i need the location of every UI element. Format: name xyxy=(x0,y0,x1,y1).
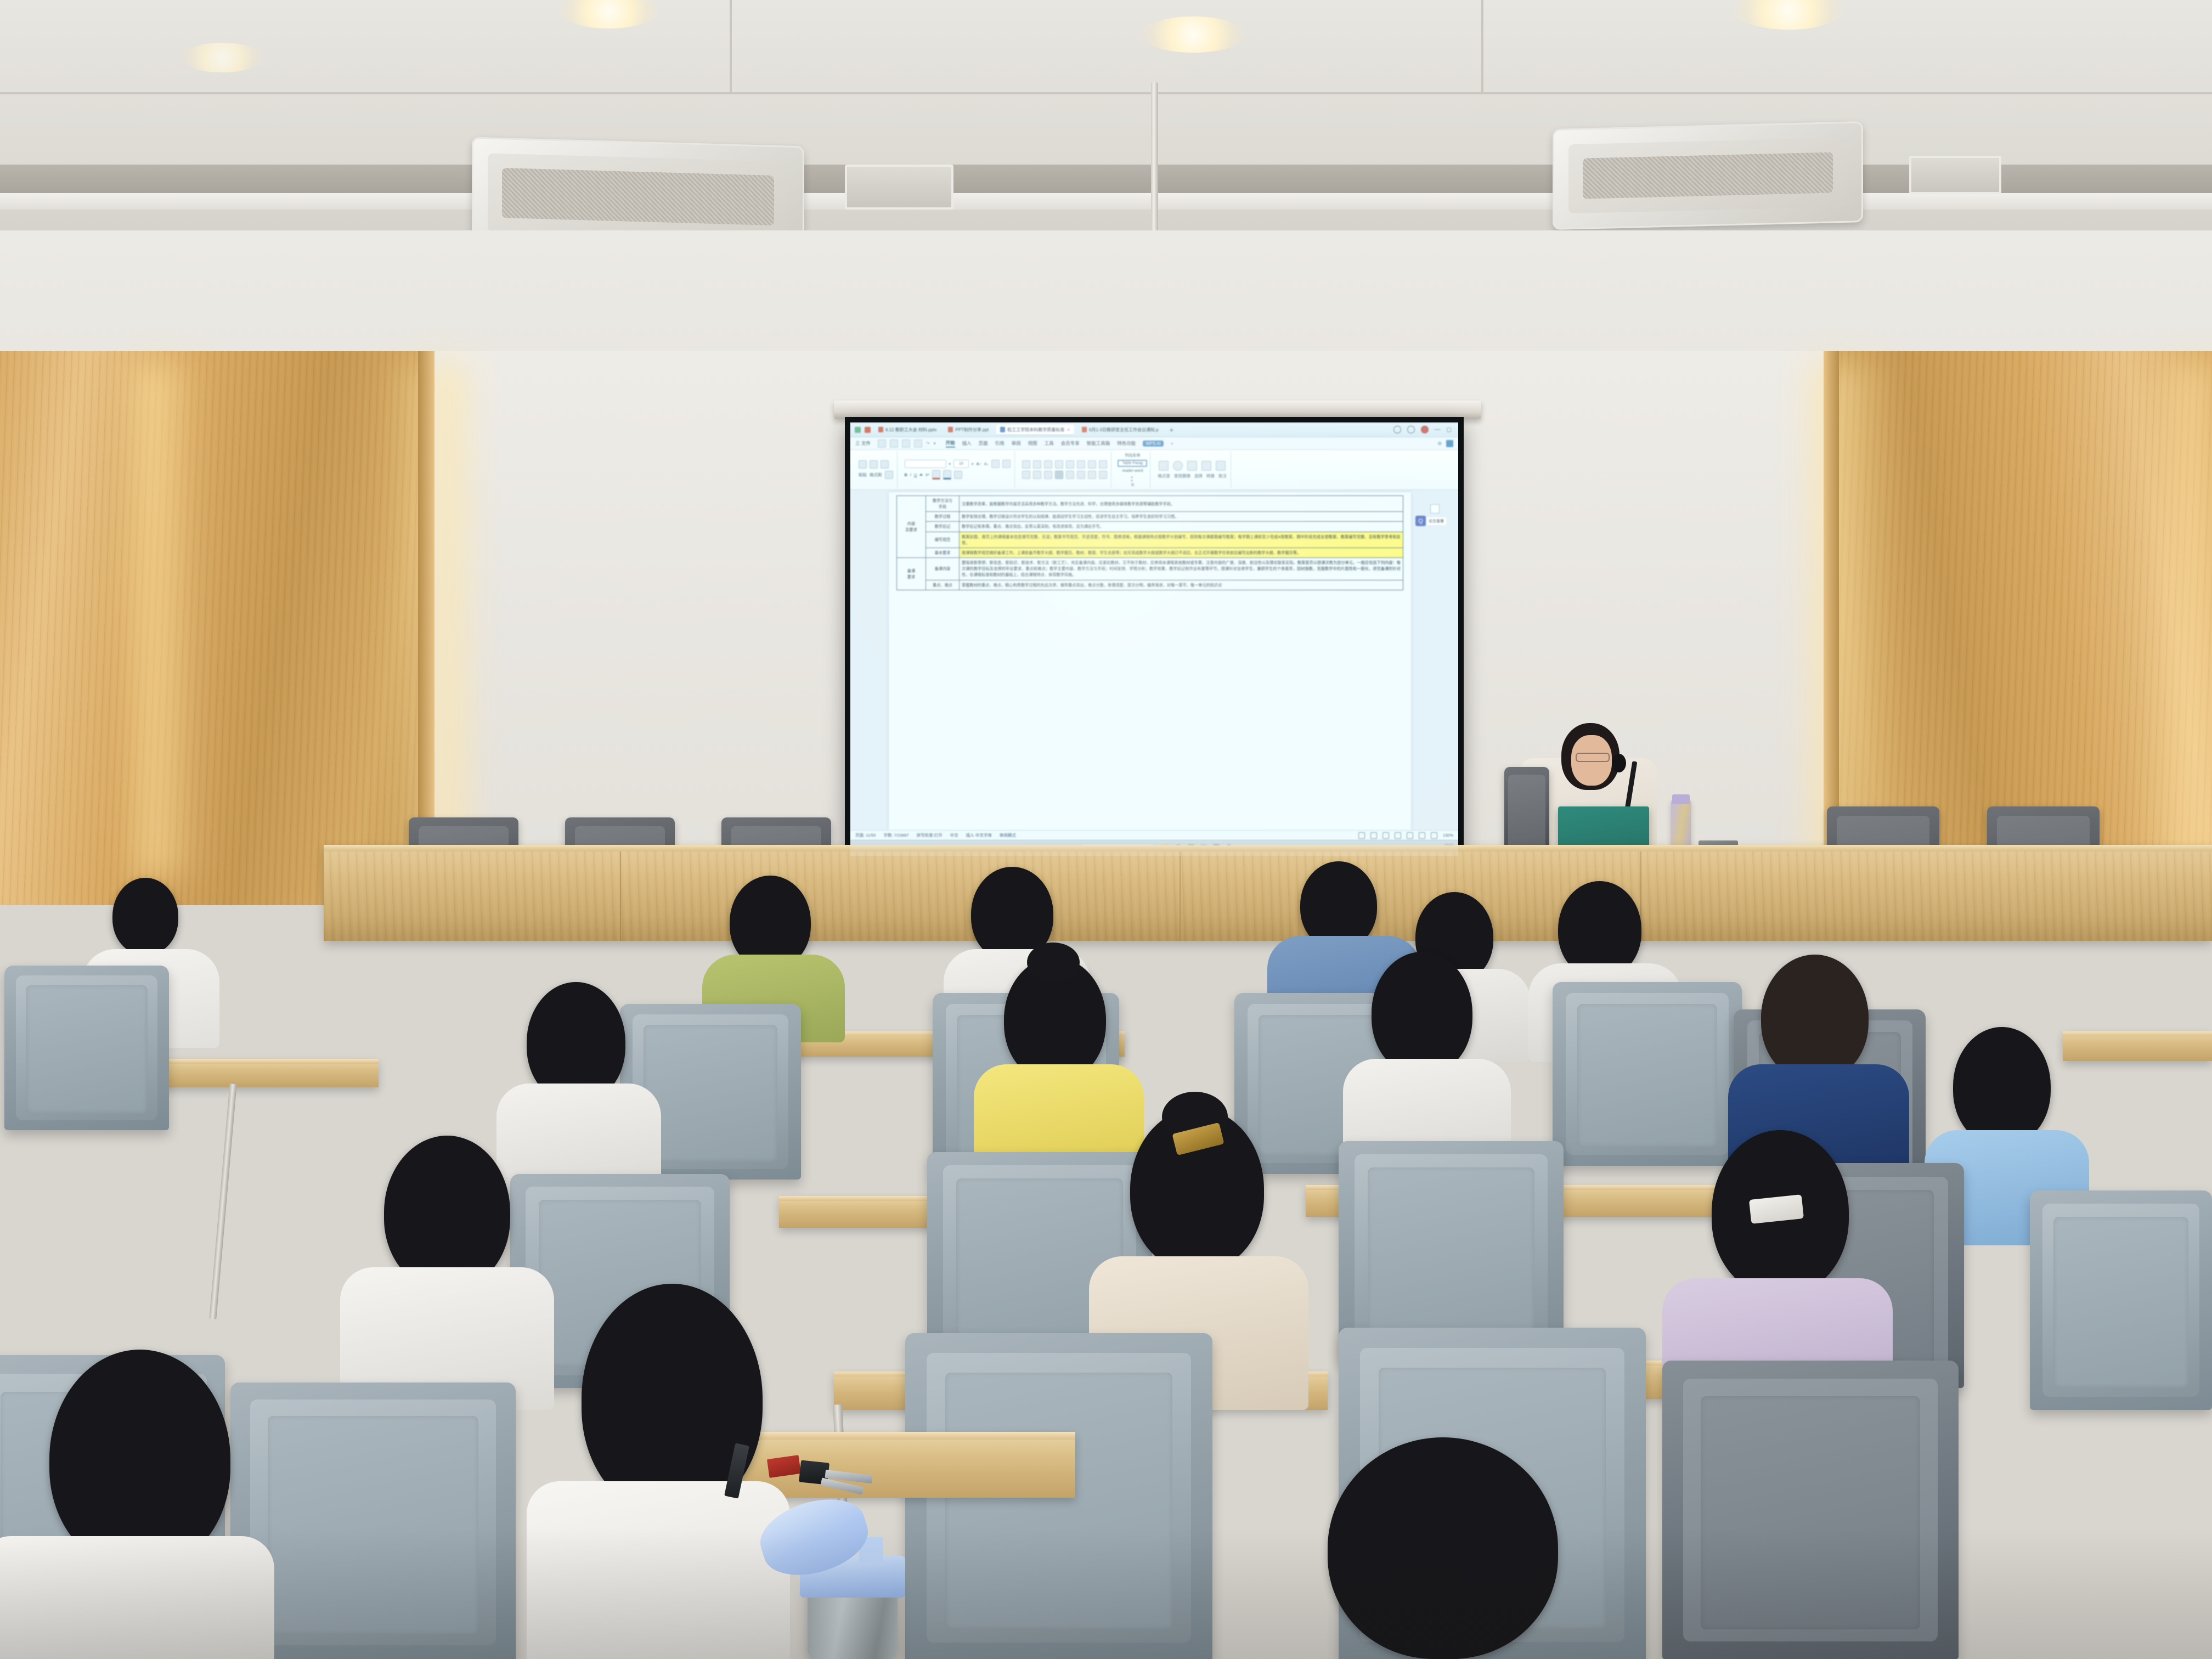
wps-menu-bar: 三 文件 ↷ ▾ 开始 插入 页面 引用 审阅 视图 工具 xyxy=(850,437,1458,450)
row-group-label: 内容 及要求 xyxy=(897,496,926,558)
format-painter-icon[interactable] xyxy=(885,471,893,479)
tab-smart-toolbox[interactable]: 智能工具箱 xyxy=(1087,440,1110,447)
section-indicator[interactable]: 审阅模式 xyxy=(1000,832,1016,838)
row-body-text: 教学后记有条理，重点、难点突出，反思认真深刻，有改进体现，且为课后手写。 xyxy=(960,522,1403,532)
status-bar-right: 130% xyxy=(1358,832,1453,839)
settings-icon[interactable] xyxy=(1407,426,1415,433)
podium-desk-top-edge xyxy=(324,845,2212,851)
doc-tab-0[interactable]: 6.12 教职工大会 材料.pptx xyxy=(874,425,940,435)
table-row[interactable]: 教学后记 教学后记有条理，重点、难点突出，反思认真深刻，有改进体现，且为课后手写… xyxy=(897,522,1403,532)
audience-shoulders xyxy=(0,1536,274,1659)
wood-wall-panel-left xyxy=(0,351,433,905)
plagiarism-check-button[interactable]: Q 论文查重 xyxy=(1415,516,1454,526)
tab-page[interactable]: 页面 xyxy=(979,440,988,447)
paragraph-marks-icon[interactable] xyxy=(1077,460,1085,469)
ceiling-downlight xyxy=(1141,16,1245,53)
superscript-button[interactable]: X² xyxy=(925,472,929,477)
reading-layout-icon[interactable] xyxy=(1383,832,1389,839)
doc-tab-label: 粒工工学院本科教学质量标准 xyxy=(1007,427,1064,433)
ceiling-downlight xyxy=(181,43,263,72)
doc-tab-1[interactable]: PPT制作分享.ppt xyxy=(944,425,992,435)
ceiling-soffit xyxy=(0,165,2212,193)
menubar-right-group: ⊖ xyxy=(1437,440,1453,447)
tab-reference[interactable]: 引用 xyxy=(995,440,1005,447)
doc-tab-label: PPT制作分享.ppt xyxy=(955,427,989,433)
table-row[interactable]: 基本要求 按课程教学规范做好备课工作。上课前备齐教学大纲、教学履历、教材、教案、… xyxy=(897,548,1403,557)
audience-chair xyxy=(1662,1361,1959,1659)
format-painter-label[interactable]: 格式刷 xyxy=(870,472,882,478)
numbered-list-icon[interactable] xyxy=(1033,460,1041,469)
file-menu-button[interactable]: 三 文件 xyxy=(855,440,871,447)
strikethrough-button[interactable]: A xyxy=(919,472,922,477)
convert-label[interactable]: 转换 xyxy=(1206,473,1215,479)
doc-tab-label: 6.12 教职工大会 材料.pptx xyxy=(885,427,936,433)
underline-button[interactable]: U xyxy=(914,472,917,477)
audience-chair xyxy=(1553,982,1742,1166)
window-controls: — ▢ xyxy=(1393,426,1454,433)
shading-icon[interactable] xyxy=(1088,471,1096,479)
table-row[interactable]: 内容 及要求 教学方法与 手段 注重教学改革，能根据教学内容灵活采用多种教学方法… xyxy=(897,496,1403,512)
row-body-text-highlighted: 教案封面、扉页上的课程基本信息填写完整、无误；教案书写规范、字迹清楚，符号、图表… xyxy=(960,532,1403,548)
audience-desk xyxy=(2063,1031,2212,1061)
new-tab-icon[interactable] xyxy=(865,427,871,433)
minus-icon[interactable] xyxy=(1407,832,1413,839)
tab-insert[interactable]: 插入 xyxy=(962,440,972,447)
audience-head xyxy=(1372,952,1472,1075)
styles-gallery-label: 列出反体 xyxy=(1119,453,1146,458)
plagiarism-check-tooltip: 论文查重 xyxy=(1426,517,1447,526)
cursor-select-icon[interactable] xyxy=(1187,461,1197,471)
close-icon[interactable]: ✕ xyxy=(1066,427,1070,432)
key-ring xyxy=(768,1454,900,1498)
row-sub-label: 重点、难点 xyxy=(926,580,960,590)
row-sub-label: 教学过程 xyxy=(926,512,960,522)
document-right-rail: Q 论文查重 xyxy=(1415,504,1454,526)
audience-head xyxy=(1761,955,1869,1081)
indent-increase-icon[interactable] xyxy=(1055,460,1063,469)
desk-leg xyxy=(209,1084,236,1319)
multilevel-list-icon[interactable] xyxy=(1088,460,1096,469)
podium-desk xyxy=(324,845,2212,941)
align-right-icon[interactable] xyxy=(1044,471,1052,479)
zoom-level-label[interactable]: 130% xyxy=(1443,833,1453,838)
wps-tab-bar: 6.12 教职工大会 材料.pptx PPT制作分享.ppt 粒工工学院本科教学… xyxy=(850,422,1458,437)
audience-head xyxy=(384,1136,510,1289)
row-sub-label: 编写规范 xyxy=(926,532,960,548)
borders-icon[interactable] xyxy=(1099,471,1107,479)
bullet-list-icon[interactable] xyxy=(1022,460,1030,469)
row-sub-label: 基本要求 xyxy=(926,548,960,557)
wps-office-window: 6.12 教职工大会 材料.pptx PPT制作分享.ppt 粒工工学院本科教学… xyxy=(850,422,1458,856)
indent-decrease-icon[interactable] xyxy=(1044,460,1052,469)
projection-screen-frame: 6.12 教职工大会 材料.pptx PPT制作分享.ppt 粒工工学院本科教学… xyxy=(845,417,1464,861)
chevron-down-icon[interactable]: ▾ xyxy=(972,462,974,466)
document-page[interactable]: 内容 及要求 教学方法与 手段 注重教学改革，能根据教学内容灵活采用多种教学方法… xyxy=(889,492,1411,830)
account-icon[interactable] xyxy=(1393,426,1401,433)
page-indicator[interactable]: 页面: 11/55 xyxy=(855,832,876,838)
audience-chair xyxy=(4,966,169,1130)
powerpoint-file-icon xyxy=(1082,427,1087,432)
table-row[interactable]: 教学过程 教学安排合理，教学过程设计符合学生的认知规律，能调动学生学习主动性，促… xyxy=(897,512,1403,522)
share-upload-icon[interactable] xyxy=(1430,504,1440,513)
tab-tools[interactable]: 工具 xyxy=(1045,440,1054,447)
doc-tab-3[interactable]: 6月1-3日教研室主任工作会议通知.p xyxy=(1078,425,1163,435)
font-name-input[interactable] xyxy=(905,460,946,468)
comment-label[interactable]: 批注 xyxy=(1218,473,1227,479)
highlight-icon[interactable] xyxy=(932,470,940,479)
microphone-head-icon xyxy=(1612,754,1626,772)
row-body-text: 教学安排合理，教学过程设计符合学生的认知规律，能调动学生学习主动性，促进学生自主… xyxy=(960,512,1403,522)
collapse-ribbon-icon[interactable]: ⊖ xyxy=(1437,441,1442,447)
print-preview-icon[interactable] xyxy=(902,439,910,448)
italic-button[interactable]: I xyxy=(910,472,911,477)
font-color-icon[interactable] xyxy=(943,470,951,479)
word-count-indicator[interactable]: 字数: 7/23997 xyxy=(883,832,909,838)
select-label[interactable]: 选择 xyxy=(1194,473,1203,479)
row-sub-label: 备课内容 xyxy=(926,558,960,580)
chevron-down-icon[interactable]: ▾ xyxy=(934,441,936,446)
tab-member[interactable]: 会员专享 xyxy=(1061,440,1080,447)
ceiling-lip xyxy=(0,193,2212,210)
style-find-label[interactable]: 格式查 xyxy=(1158,473,1170,479)
ceiling-seam xyxy=(0,92,2212,94)
doc-tab-2-active[interactable]: 粒工工学院本科教学质量标准 ✕ xyxy=(996,425,1074,435)
align-justify-icon[interactable] xyxy=(1055,471,1063,479)
grow-font-icon[interactable]: A↑ xyxy=(977,461,981,466)
ceiling-seam xyxy=(1481,0,1483,92)
document-canvas[interactable]: 内容 及要求 教学方法与 手段 注重教学改革，能根据教学内容灵活采用多种教学方法… xyxy=(850,490,1458,830)
shrink-font-icon[interactable]: A↓ xyxy=(984,461,989,466)
projection-screen-housing xyxy=(834,400,1481,419)
ribbon-group-paragraph xyxy=(1018,452,1111,488)
row-sub-label: 教学方法与 手段 xyxy=(926,496,960,512)
ceiling-ac-cassette xyxy=(1553,121,1863,230)
ceiling-air-vent xyxy=(1909,156,2001,194)
copy-icon[interactable] xyxy=(870,460,878,469)
redo-icon[interactable]: ↷ xyxy=(926,441,930,446)
paste-label[interactable]: 粘贴 xyxy=(859,472,867,478)
tab-view[interactable]: 视图 xyxy=(1028,440,1037,447)
print-icon[interactable] xyxy=(890,439,898,448)
clear-format-icon[interactable] xyxy=(1002,460,1011,468)
row-body-text: 注重教学改革，能根据教学内容灵活采用多种教学方法。教学方法先进、科学，合理使用多… xyxy=(960,496,1403,512)
table-row[interactable]: 重点、难点 掌握教材的重点、难点，精心构思教学过程的先后次序，做到重点突出，难点… xyxy=(897,580,1403,590)
ribbon-group-clipboard: 粘贴 格式刷 xyxy=(855,452,898,488)
audience-head xyxy=(112,878,178,955)
ribbon-group-font: ▾ 10 ▾ A↑ A↓ B I U A xyxy=(901,452,1015,488)
line-spacing-icon[interactable] xyxy=(1077,471,1085,479)
typing-mode-indicator[interactable]: 插入 中文字体 xyxy=(966,832,992,838)
paste-icon[interactable] xyxy=(859,460,867,469)
web-layout-icon[interactable] xyxy=(1358,832,1365,839)
chevron-down-icon[interactable]: ▾ xyxy=(949,462,951,466)
pencil-icon[interactable] xyxy=(1419,832,1425,839)
audience-hair-bun xyxy=(1027,943,1080,982)
ribbon-group-styles: 列出反体 Table Parag reader-word ▴▾▤ xyxy=(1115,452,1150,488)
style-item-table-parag[interactable]: Table Parag xyxy=(1118,460,1147,467)
powerpoint-file-icon xyxy=(948,427,953,432)
water-bottle-cap xyxy=(1672,794,1690,804)
spellcheck-indicator[interactable]: 拼写检查:打开 xyxy=(917,832,943,838)
language-indicator[interactable]: 中文 xyxy=(950,832,958,838)
wps-ai-button[interactable]: WPS AI xyxy=(1143,441,1164,447)
row-group-label: 备课 要求 xyxy=(897,558,926,590)
wps-logo-icon[interactable] xyxy=(855,427,861,433)
tab-special-features[interactable]: 特色功能 xyxy=(1117,440,1136,447)
presenter-glasses-icon xyxy=(1576,753,1610,762)
row-body-text: 要吸收新思想、新信息、新知识、新技术、新方法（新工艺），充实备课内容。应紧扣教材… xyxy=(960,558,1403,580)
row-sub-label: 教学后记 xyxy=(926,522,960,532)
notification-icon[interactable] xyxy=(1421,426,1429,433)
scissors-icon[interactable] xyxy=(881,460,889,469)
audience-ponytail xyxy=(1404,1591,1503,1659)
red-key-tag xyxy=(767,1455,801,1478)
quick-access-toolbar: ↷ ▾ xyxy=(878,439,936,448)
minimize-icon[interactable]: — xyxy=(1435,426,1441,433)
distribute-icon[interactable] xyxy=(1066,471,1074,479)
sort-icon[interactable] xyxy=(1066,460,1074,469)
play-icon[interactable] xyxy=(1395,832,1401,839)
styles-scroll-controls[interactable]: ▴▾▤ xyxy=(1131,475,1135,487)
tab-review[interactable]: 审阅 xyxy=(1012,440,1021,447)
audience-shoulders xyxy=(527,1481,790,1659)
search-icon[interactable] xyxy=(1173,461,1183,471)
print-layout-icon[interactable] xyxy=(1370,832,1377,839)
new-tab-button[interactable]: + xyxy=(1166,426,1177,434)
save-icon[interactable] xyxy=(878,439,886,448)
projection-screen: 6.12 教职工大会 材料.pptx PPT制作分享.ppt 粒工工学院本科教学… xyxy=(850,422,1458,856)
char-border-icon[interactable] xyxy=(954,471,962,479)
style-find-icon[interactable] xyxy=(1159,461,1169,471)
teaching-standards-table: 内容 及要求 教学方法与 手段 注重教学改革，能根据教学内容灵活采用多种教学方法… xyxy=(896,495,1403,590)
table-row[interactable]: 编写规范 教案封面、扉页上的课程基本信息填写完整、无误；教案书写规范、字迹清楚，… xyxy=(897,532,1403,548)
conference-room-scene: 6.12 教职工大会 材料.pptx PPT制作分享.ppt 粒工工学院本科教学… xyxy=(0,0,2212,1659)
find-replace-label[interactable]: 查找替换 xyxy=(1174,473,1190,479)
maximize-icon[interactable]: ▢ xyxy=(1447,427,1452,433)
audience-chair xyxy=(2030,1190,2212,1410)
powerpoint-file-icon xyxy=(878,427,883,432)
doc-tab-label: 6月1-3日教研室主任工作会议通知.p xyxy=(1089,427,1159,433)
text-direction-icon[interactable] xyxy=(1099,460,1107,469)
row-body-text-highlighted: 按课程教学规范做好备课工作。上课前备齐教学大纲、教学履历、教材、教案、学生名册等… xyxy=(960,548,1403,557)
ceiling-seam xyxy=(730,0,732,92)
word-file-icon xyxy=(1000,427,1005,432)
convert-icon[interactable] xyxy=(1201,461,1211,471)
table-row[interactable]: 备课 要求 备课内容 要吸收新思想、新信息、新知识、新技术、新方法（新工艺），充… xyxy=(897,558,1403,580)
align-center-icon[interactable] xyxy=(1033,471,1041,479)
pinyin-guide-icon[interactable] xyxy=(991,460,1000,468)
tab-start[interactable]: 开始 xyxy=(946,439,955,448)
wps-ribbon: 粘贴 格式刷 ▾ 10 ▾ A↑ A↓ xyxy=(850,450,1458,490)
bold-button[interactable]: B xyxy=(905,472,907,477)
align-left-icon[interactable] xyxy=(1022,471,1030,479)
share-button[interactable] xyxy=(1446,440,1453,447)
search-icon[interactable]: ⌕ xyxy=(1171,441,1173,447)
comment-icon[interactable] xyxy=(1216,461,1226,471)
style-item-reader-word[interactable]: reader-word xyxy=(1119,469,1146,473)
undo-icon[interactable] xyxy=(914,439,922,448)
row-body-text: 掌握教材的重点、难点，精心构思教学过程的先后次序，做到重点突出，难点分散，条理清… xyxy=(960,580,1403,590)
plagiarism-check-icon: Q xyxy=(1415,516,1426,526)
fullscreen-icon[interactable] xyxy=(1431,832,1437,839)
font-size-input[interactable]: 10 xyxy=(953,460,969,468)
ceiling-air-vent xyxy=(845,165,953,210)
wps-status-bar: 页面: 11/55 字数: 7/23997 拼写检查:打开 中文 插入 中文字体… xyxy=(850,830,1458,840)
ribbon-group-editing: 格式查 查找替换 选择 转换 批注 xyxy=(1154,452,1231,488)
